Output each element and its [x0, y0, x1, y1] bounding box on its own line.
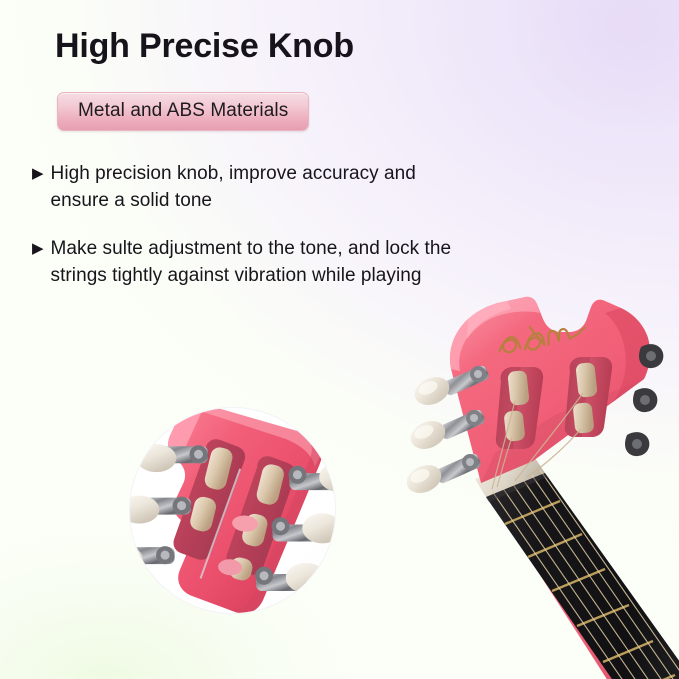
page-title: High Precise Knob — [55, 27, 354, 66]
guitar-headstock-photo — [355, 275, 679, 679]
tuning-machine-left-3 — [402, 452, 482, 498]
tuning-machine-right-1 — [639, 344, 663, 368]
marketing-image: High Precise Knob Metal and ABS Material… — [0, 0, 679, 679]
badge-container: Metal and ABS Materials — [57, 92, 309, 131]
list-item: ▶ Make sulte adjustment to the tone, and… — [32, 235, 452, 289]
headstock-body — [450, 297, 650, 483]
feature-bullet-list: ▶ High precision knob, improve accuracy … — [32, 160, 452, 310]
knob-closeup-inset — [130, 408, 335, 613]
tuning-machine-right-2 — [633, 388, 657, 412]
bullet-text: Make sulte adjustment to the tone, and l… — [51, 235, 452, 289]
tuning-machine-right-3 — [625, 432, 649, 456]
bullet-text: High precision knob, improve accuracy an… — [51, 160, 452, 214]
guitar-neck — [475, 455, 679, 679]
triangle-bullet-icon: ▶ — [32, 160, 44, 214]
list-item: ▶ High precision knob, improve accuracy … — [32, 160, 452, 214]
materials-badge: Metal and ABS Materials — [57, 92, 309, 131]
triangle-bullet-icon: ▶ — [32, 235, 44, 289]
